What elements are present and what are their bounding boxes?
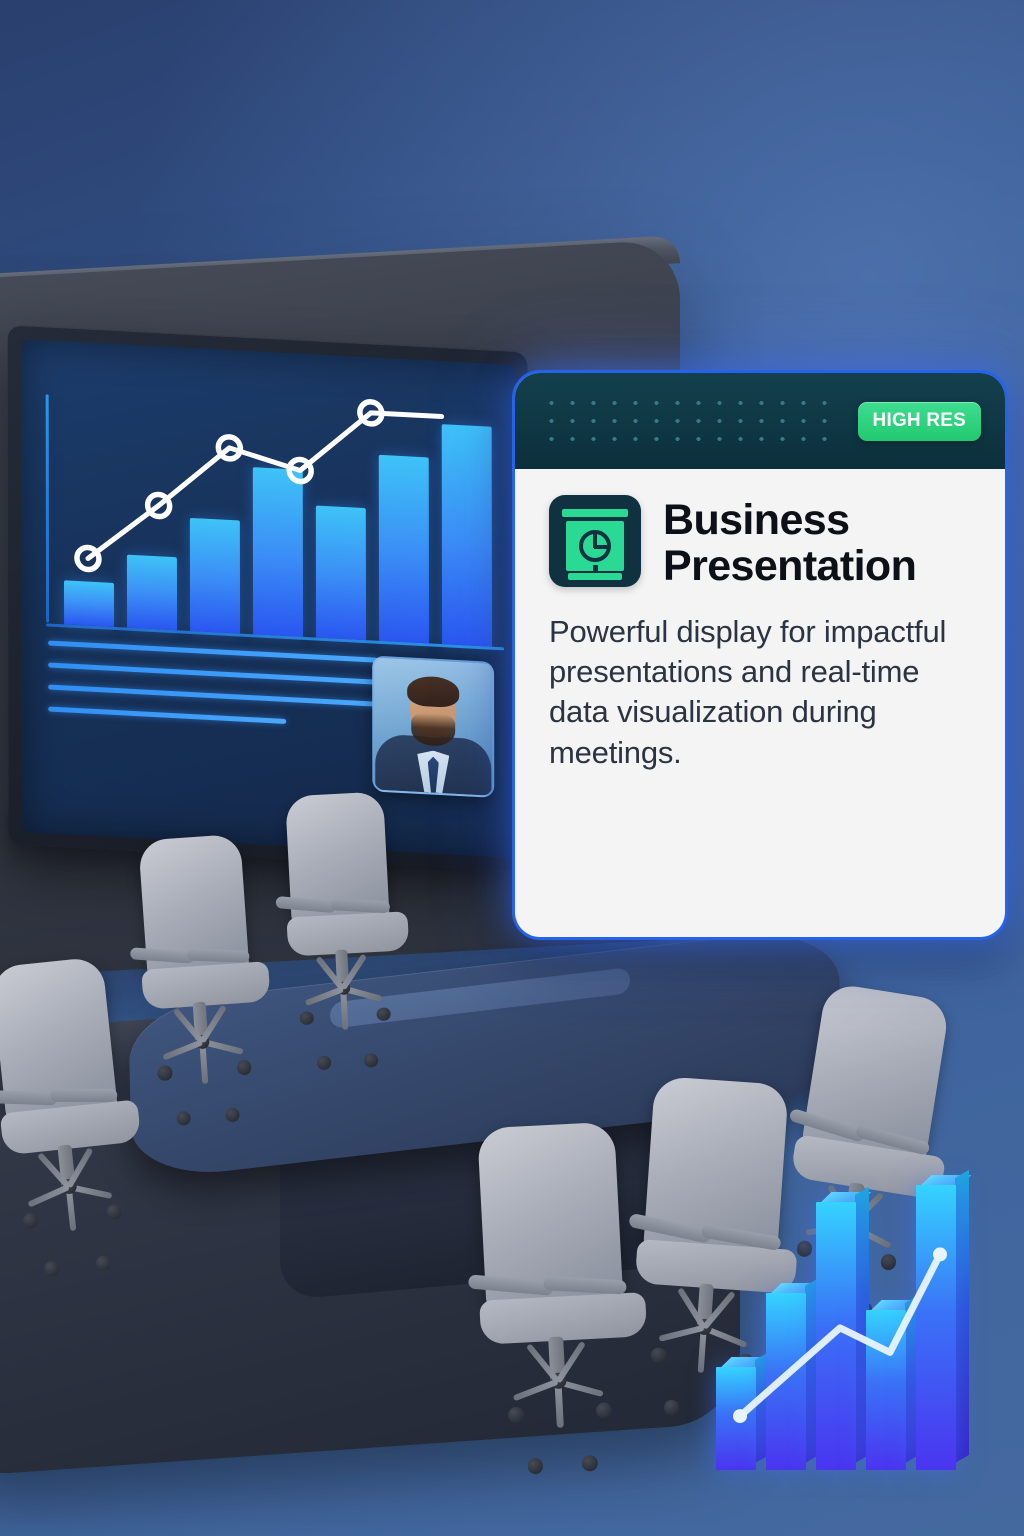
text-line [48, 640, 378, 662]
data-point-marker [733, 1409, 747, 1423]
chair-armrest [50, 1089, 117, 1102]
icon-top-rail [562, 509, 628, 517]
chair-base-leg [658, 1324, 704, 1341]
chair-base-leg [27, 1184, 70, 1207]
screen-bar-chart [46, 368, 498, 650]
monitor-screen [22, 339, 517, 858]
chair-base-leg [514, 1378, 560, 1401]
presentation-chart-icon [549, 495, 641, 587]
data-point-marker [933, 1247, 947, 1261]
info-card-inner: HIGH RES Business Presentation Powerful … [515, 373, 1005, 937]
chair-caster [508, 1407, 525, 1424]
text-line [48, 684, 378, 706]
chair-caster [158, 1066, 173, 1081]
status-badge[interactable]: HIGH RES [858, 402, 981, 441]
chair-caster [299, 1011, 314, 1026]
chart-trend-markers [46, 368, 498, 650]
info-card-body: Business Presentation Powerful display f… [515, 469, 1005, 937]
participant-hair [407, 675, 459, 708]
text-line [48, 706, 286, 723]
chair-caster [650, 1347, 667, 1364]
wall-monitor[interactable] [8, 324, 529, 871]
chair-caster [376, 1007, 391, 1022]
chair-caster [106, 1204, 122, 1220]
chair-armrest [0, 1090, 58, 1105]
chair-caster [237, 1060, 252, 1075]
chair-seat [286, 912, 409, 957]
video-call-participant-thumbnail[interactable] [372, 655, 494, 797]
card-description: Powerful display for impactful presentat… [549, 612, 975, 773]
office-chair[interactable] [276, 789, 443, 1069]
3d-chart-trend-line [716, 1160, 986, 1490]
icon-bottom-rail [568, 573, 622, 580]
chair-caster [22, 1213, 38, 1229]
chair-caster [317, 1055, 332, 1070]
info-card-header: HIGH RES [515, 373, 1005, 469]
pie-chart-icon [579, 530, 611, 562]
text-line [48, 662, 378, 684]
floating-3d-bar-chart [716, 1160, 986, 1490]
chair-seat [141, 961, 271, 1010]
chair-caster [596, 1402, 613, 1419]
chair-armrest [188, 948, 250, 962]
title-row: Business Presentation [549, 495, 975, 590]
perforation-dots-pattern [541, 394, 831, 448]
screen-text-lines [48, 640, 378, 745]
chair-caster [582, 1455, 599, 1472]
chair-base-leg [341, 989, 349, 1030]
chair-caster [663, 1399, 680, 1416]
chair-base-leg [304, 986, 344, 1006]
chair-seat [480, 1291, 647, 1344]
participant-avatar [374, 658, 492, 796]
card-title: Business Presentation [663, 495, 975, 590]
chair-caster [527, 1458, 544, 1475]
info-card[interactable]: HIGH RES Business Presentation Powerful … [512, 370, 1008, 940]
chair-base-leg [163, 1039, 204, 1060]
